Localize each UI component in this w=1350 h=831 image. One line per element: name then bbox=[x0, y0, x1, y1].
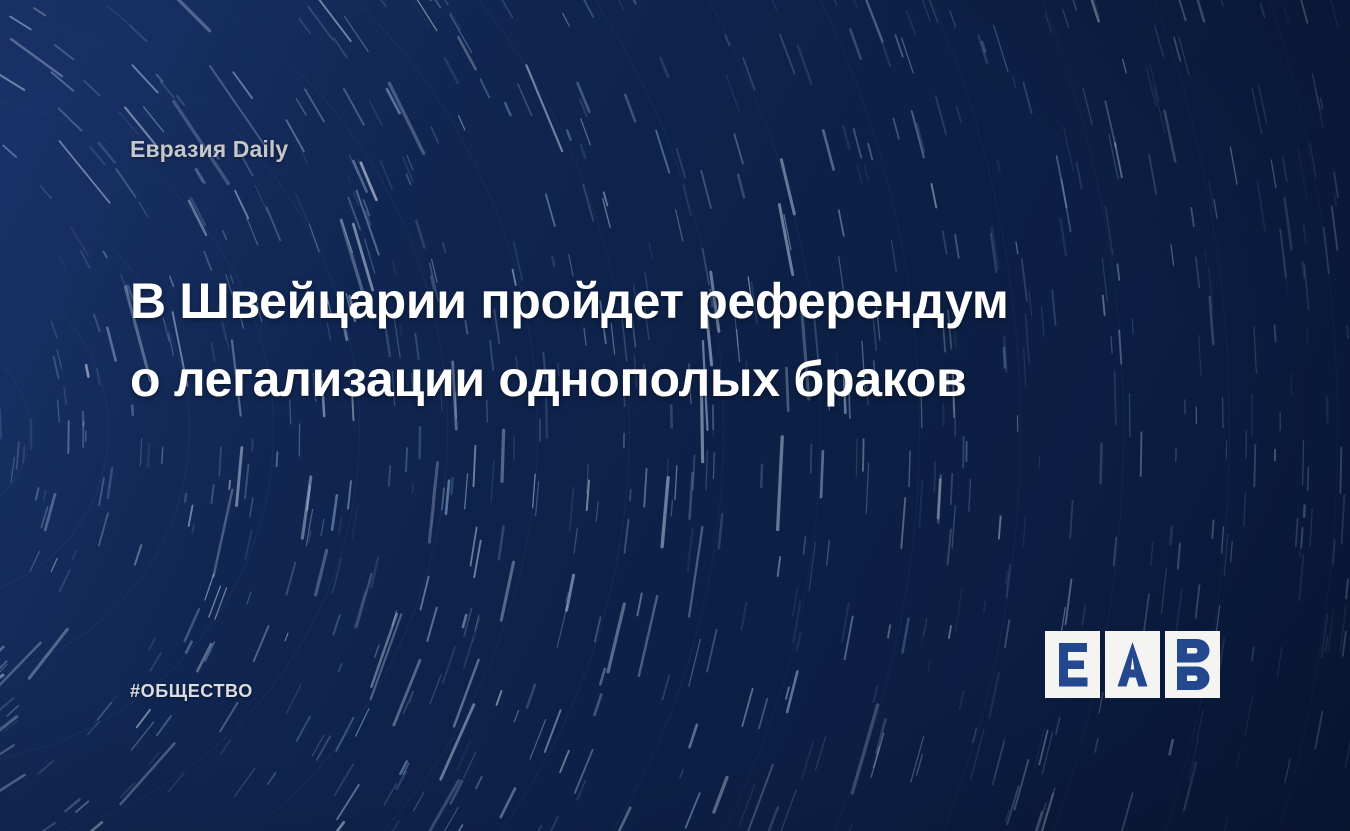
logo-letter-e bbox=[1045, 631, 1100, 698]
logo-letter-d bbox=[1165, 631, 1220, 698]
news-share-card: Евразия Daily В Швейцарии пройдет рефере… bbox=[0, 0, 1350, 831]
card-content: Евразия Daily В Швейцарии пройдет рефере… bbox=[0, 0, 1350, 831]
eadaily-logo[interactable] bbox=[1045, 631, 1220, 698]
headline: В Швейцарии пройдет референдум о легализ… bbox=[130, 262, 1130, 418]
headline-line-2: о легализации однополых браков bbox=[130, 340, 1130, 418]
headline-line-1: В Швейцарии пройдет референдум bbox=[130, 262, 1130, 340]
category-tag[interactable]: #ОБЩЕСТВО bbox=[130, 681, 253, 702]
brand-name: Евразия Daily bbox=[130, 136, 288, 163]
logo-letter-a bbox=[1105, 631, 1160, 698]
